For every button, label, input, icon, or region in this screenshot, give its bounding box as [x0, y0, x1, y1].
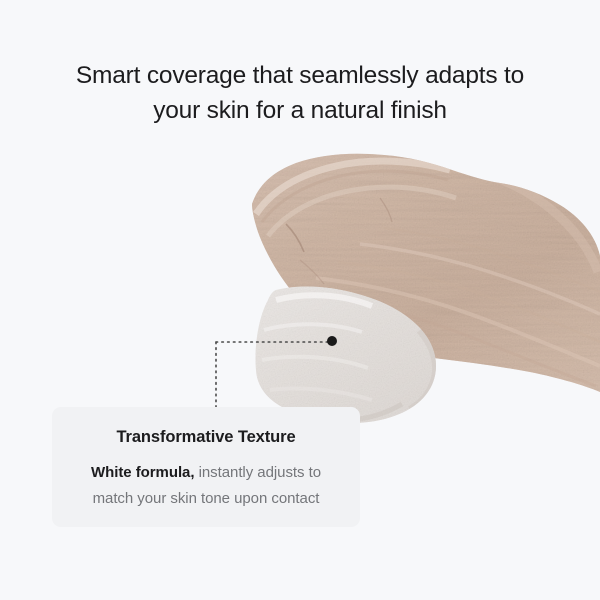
- page-title: Smart coverage that seamlessly adapts to…: [0, 58, 600, 128]
- texture-anchor-dot: [327, 336, 337, 346]
- callout-body-emphasis: White formula,: [91, 464, 194, 481]
- headline-line-1: Smart coverage that seamlessly adapts to: [0, 58, 600, 93]
- callout-body-line-2: match your skin tone upon contact: [70, 486, 342, 512]
- product-texture-infographic: Smart coverage that seamlessly adapts to…: [0, 0, 600, 600]
- headline-line-2: your skin for a natural finish: [0, 93, 600, 128]
- callout-card: Transformative Texture White formula, in…: [52, 407, 360, 527]
- callout-title: Transformative Texture: [70, 427, 342, 447]
- callout-body-rest: instantly adjusts to: [194, 464, 321, 481]
- callout-body-line-1: White formula, instantly adjusts to: [70, 460, 342, 486]
